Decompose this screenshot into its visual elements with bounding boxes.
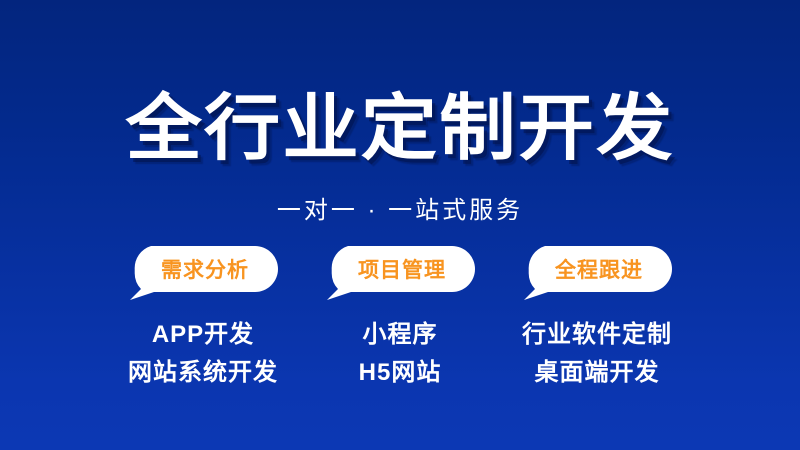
badge-project-management[interactable]: 项目管理 [325, 246, 475, 292]
badge-full-process-tracking[interactable]: 全程跟进 [522, 246, 672, 292]
page-title: 全行业定制开发 [125, 88, 674, 170]
service-column-2: 项目管理 小程序 H5网站 [309, 246, 491, 392]
service-columns: 需求分析 APP开发 网站系统开发 项目管理 小程序 H5网站 全程跟进 [112, 246, 688, 392]
title-container: 全行业定制开发 [0, 88, 800, 170]
service-item: 桌面端开发 [535, 354, 660, 392]
service-item: 行业软件定制 [522, 316, 672, 354]
service-item: 小程序 [363, 316, 438, 354]
badge-label: 项目管理 [325, 246, 475, 292]
badge-requirement-analysis[interactable]: 需求分析 [128, 246, 278, 292]
service-column-3: 全程跟进 行业软件定制 桌面端开发 [506, 246, 688, 392]
subtitle-container: 一对一 · 一站式服务 [0, 196, 800, 226]
service-column-1: 需求分析 APP开发 网站系统开发 [112, 246, 294, 392]
badge-label: 全程跟进 [522, 246, 672, 292]
promo-banner: 全行业定制开发 一对一 · 一站式服务 需求分析 APP开发 网站系统开发 项目… [0, 0, 800, 450]
service-item: H5网站 [359, 354, 442, 392]
service-item: 网站系统开发 [128, 354, 278, 392]
page-subtitle: 一对一 · 一站式服务 [277, 196, 523, 226]
badge-label: 需求分析 [128, 246, 278, 292]
service-item: APP开发 [152, 316, 254, 354]
